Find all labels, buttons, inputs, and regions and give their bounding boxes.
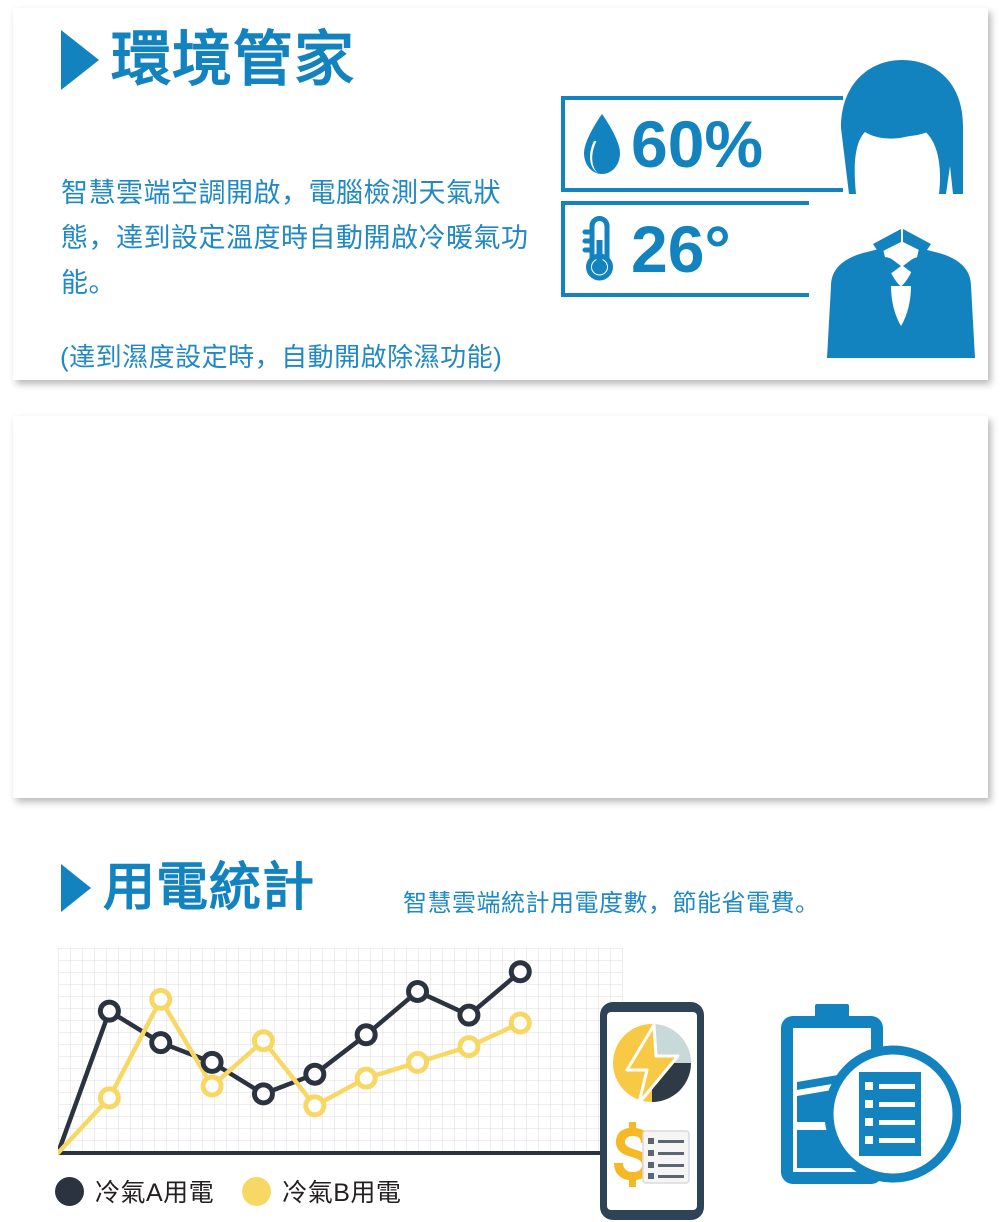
chart-point bbox=[409, 982, 427, 1000]
environment-note: (達到濕度設定時，自動開啟除濕功能) bbox=[60, 337, 502, 374]
legend-swatch-series-a bbox=[55, 1177, 84, 1206]
legend-label-series-b: 冷氣B用電 bbox=[282, 1173, 401, 1209]
chart-point bbox=[357, 1026, 375, 1044]
chart-point bbox=[254, 1085, 272, 1103]
play-triangle-icon bbox=[61, 864, 91, 912]
chart-point bbox=[306, 1065, 324, 1083]
chart-point bbox=[100, 1002, 118, 1020]
chart-point bbox=[152, 1034, 170, 1052]
temperature-readout: 26° bbox=[561, 201, 809, 297]
environment-heading: 環境管家 bbox=[61, 30, 355, 90]
chart-point bbox=[100, 1089, 118, 1107]
chart-point bbox=[460, 1006, 478, 1024]
chart-point bbox=[409, 1053, 427, 1071]
legend-label-series-a: 冷氣A用電 bbox=[95, 1173, 214, 1209]
environment-paragraph: 智慧雲端空調開啟，電腦檢測天氣狀態，達到設定溫度時自動開啟冷暖氣功能。 bbox=[61, 171, 531, 306]
chart-point bbox=[460, 1038, 478, 1056]
chart-point bbox=[203, 1077, 221, 1095]
infographic-stage: 環境管家 智慧雲端空調開啟，電腦檢測天氣狀態，達到設定溫度時自動開啟冷暖氣功能。… bbox=[0, 0, 1000, 812]
battery-checklist-icon bbox=[775, 1002, 961, 1196]
legend-swatch-series-b bbox=[242, 1177, 271, 1206]
chart-legend: 冷氣A用電 冷氣B用電 bbox=[55, 1173, 401, 1209]
chart-point bbox=[254, 1032, 272, 1050]
butler-person-icon bbox=[803, 54, 999, 364]
usage-panel: 用電統計 智慧雲端統計用電度數，節能省電費。 冷氣A用電 冷氣B用電 bbox=[13, 416, 988, 798]
chart-point bbox=[511, 1014, 529, 1032]
legend-item-series-a: 冷氣A用電 bbox=[55, 1173, 214, 1209]
chart-point bbox=[511, 963, 529, 981]
usage-heading: 用電統計 bbox=[61, 862, 315, 914]
usage-subtitle: 智慧雲端統計用電度數，節能省電費。 bbox=[403, 883, 820, 918]
humidity-readout: 60% bbox=[561, 96, 843, 192]
humidity-value: 60% bbox=[631, 111, 763, 177]
chart-point bbox=[357, 1069, 375, 1087]
thermometer-icon bbox=[579, 214, 625, 284]
chart-point bbox=[152, 990, 170, 1008]
chart-grid bbox=[58, 948, 623, 1153]
chart-point bbox=[306, 1097, 324, 1115]
list-card-glyph bbox=[643, 1131, 689, 1183]
temperature-value: 26° bbox=[631, 216, 731, 282]
water-droplet-icon bbox=[579, 111, 625, 177]
legend-item-series-b: 冷氣B用電 bbox=[242, 1173, 401, 1209]
smartphone-energy-report-icon bbox=[598, 1000, 706, 1222]
environment-panel: 環境管家 智慧雲端空調開啟，電腦檢測天氣狀態，達到設定溫度時自動開啟冷暖氣功能。… bbox=[13, 8, 988, 380]
usage-title: 用電統計 bbox=[103, 862, 315, 914]
electricity-usage-chart bbox=[58, 948, 623, 1163]
environment-title: 環境管家 bbox=[111, 30, 355, 90]
play-triangle-icon bbox=[61, 30, 99, 90]
chart-point bbox=[203, 1053, 221, 1071]
